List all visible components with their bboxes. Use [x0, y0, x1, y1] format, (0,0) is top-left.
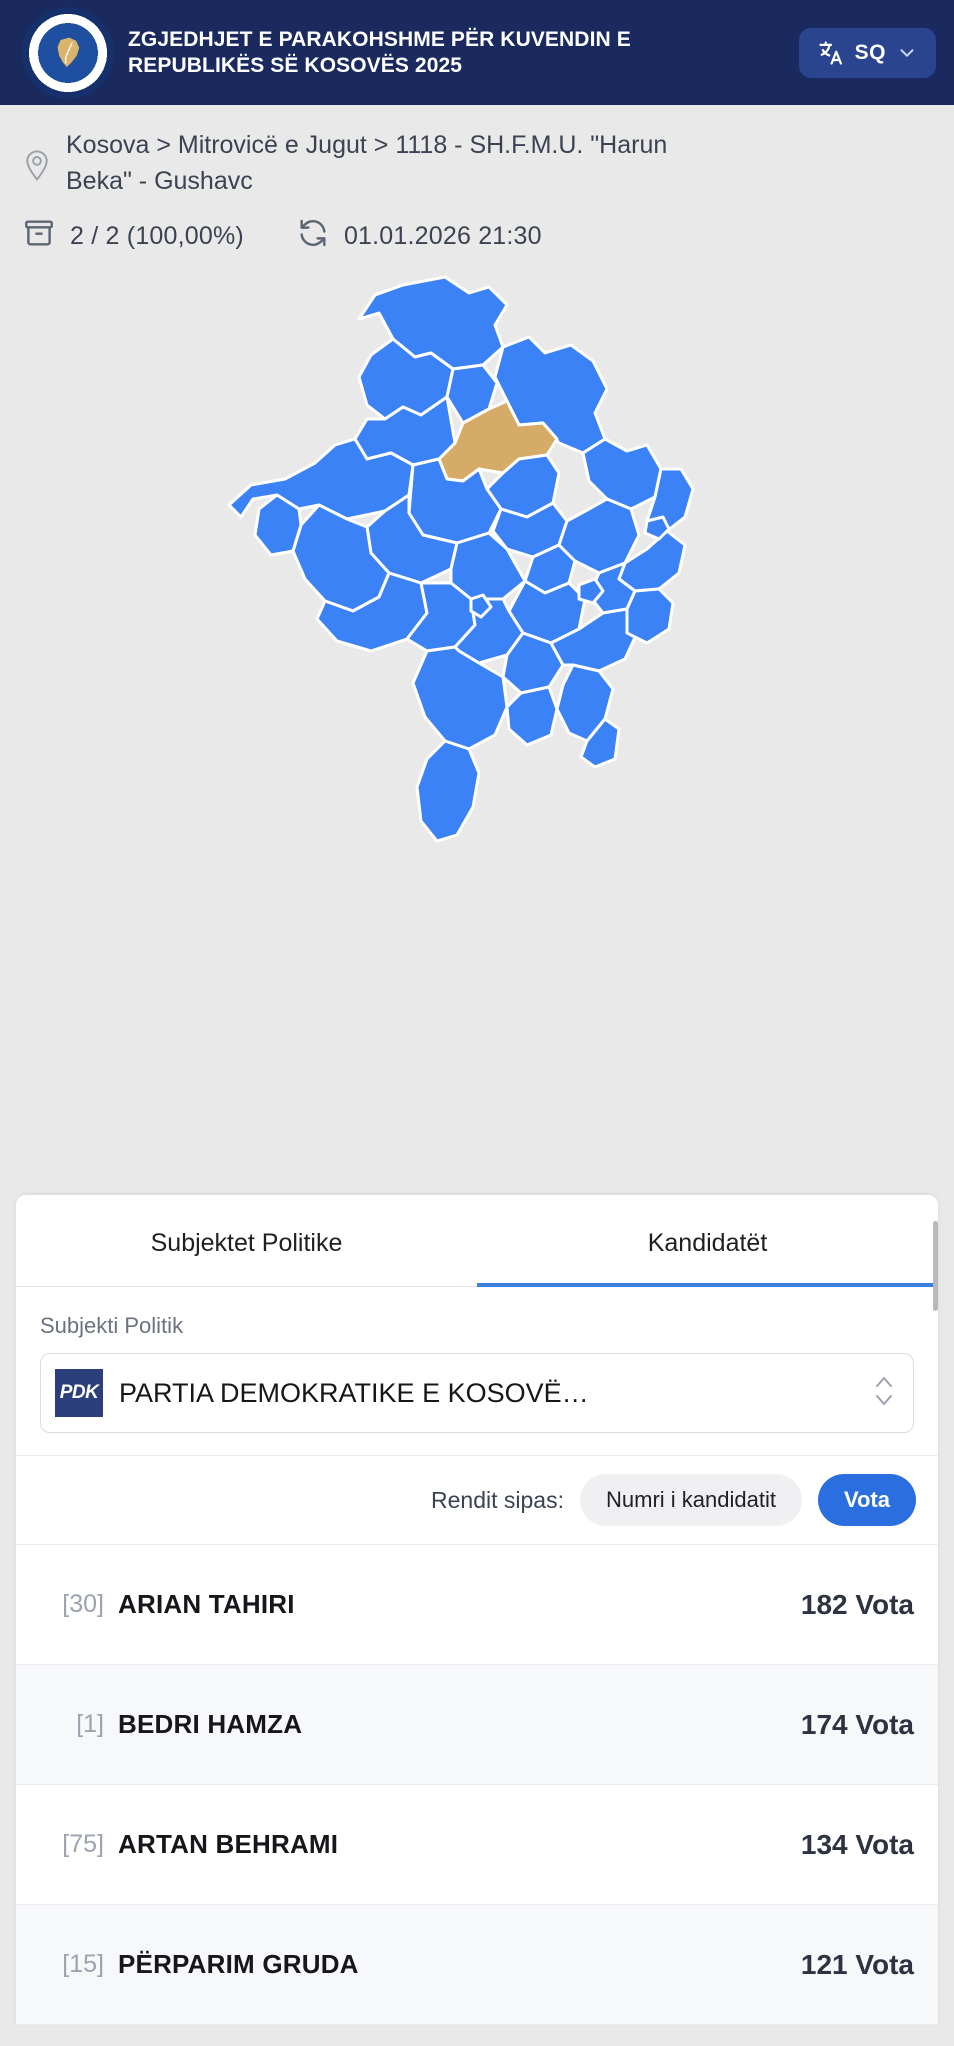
table-row[interactable]: [15] PËRPARIM GRUDA 121 Vota — [16, 1905, 938, 2025]
tab-bar: Subjektet Politike Kandidatët — [16, 1195, 938, 1287]
sort-bar: Rendit sipas: Numri i kandidatit Vota — [16, 1456, 938, 1545]
candidate-votes: 174 Vota — [801, 1709, 914, 1741]
tab-kandidatet[interactable]: Kandidatët — [477, 1195, 938, 1286]
counted-stations: 2 / 2 (100,00%) — [70, 222, 244, 251]
candidate-name: ARTAN BEHRAMI — [118, 1829, 801, 1860]
party-filter-label: Subjekti Politik — [40, 1313, 914, 1339]
kosovo-shape-icon — [49, 33, 88, 72]
location-pin-icon — [22, 149, 52, 188]
candidate-name: PËRPARIM GRUDA — [118, 1949, 801, 1980]
refresh-icon — [296, 216, 330, 257]
ballot-box-icon — [22, 216, 56, 257]
app-title: ZGJEDHJET E PARAKOHSHME PËR KUVENDIN E R… — [128, 27, 673, 78]
candidate-number: [75] — [40, 1830, 118, 1859]
candidate-number: [1] — [40, 1710, 118, 1739]
stepper-updown-icon[interactable] — [873, 1371, 895, 1416]
candidate-name: BEDRI HAMZA — [118, 1709, 801, 1740]
municipality-dragash[interactable] — [417, 741, 479, 841]
app-header: ZGJEDHJET E PARAKOHSHME PËR KUVENDIN E R… — [0, 0, 954, 105]
table-row[interactable]: [30] ARIAN TAHIRI 182 Vota — [16, 1545, 938, 1665]
sort-by-votes-button[interactable]: Vota — [818, 1474, 916, 1526]
breadcrumb: Kosova > Mitrovicë e Jugut > 1118 - SH.F… — [0, 105, 954, 200]
stats-row: 2 / 2 (100,00%) 01.01.2026 21:30 — [0, 200, 954, 267]
tab-label: Kandidatët — [648, 1229, 768, 1257]
last-updated: 01.01.2026 21:30 — [344, 222, 542, 251]
tab-label: Subjektet Politike — [151, 1229, 343, 1257]
tab-scroll-indicator[interactable] — [933, 1221, 938, 1311]
party-select[interactable]: PDK PARTIA DEMOKRATIKE E KOSOVË… — [40, 1353, 914, 1433]
candidate-name: ARIAN TAHIRI — [118, 1589, 801, 1620]
municipality-prizren[interactable] — [413, 647, 507, 749]
candidate-votes: 134 Vota — [801, 1829, 914, 1861]
kqz-seal-logo — [22, 7, 114, 99]
chevron-down-icon — [896, 42, 918, 64]
party-filter-block: Subjekti Politik PDK PARTIA DEMOKRATIKE … — [16, 1287, 938, 1456]
party-select-value: PARTIA DEMOKRATIKE E KOSOVË… — [119, 1378, 857, 1409]
municipality-shterpce[interactable] — [507, 687, 557, 745]
table-row[interactable]: [75] ARTAN BEHRAMI 134 Vota — [16, 1785, 938, 1905]
kosovo-municipalities-svg[interactable] — [207, 273, 747, 863]
municipality-viti[interactable] — [627, 589, 673, 643]
kosovo-map[interactable] — [0, 267, 954, 867]
candidate-list: [30] ARIAN TAHIRI 182 Vota [1] BEDRI HAM… — [16, 1545, 938, 2025]
language-selector-button[interactable]: SQ — [799, 28, 936, 78]
breadcrumb-path[interactable]: Kosova > Mitrovicë e Jugut > 1118 - SH.F… — [66, 127, 726, 200]
table-row[interactable]: [1] BEDRI HAMZA 174 Vota — [16, 1665, 938, 1785]
sort-label: Rendit sipas: — [431, 1487, 564, 1514]
candidate-number: [30] — [40, 1590, 118, 1619]
translate-icon — [817, 39, 845, 67]
language-code: SQ — [855, 41, 886, 65]
candidate-votes: 121 Vota — [801, 1949, 914, 1981]
candidate-votes: 182 Vota — [801, 1589, 914, 1621]
municipality-kamenice[interactable] — [583, 439, 661, 509]
candidate-number: [15] — [40, 1950, 118, 1979]
results-panel: Subjektet Politike Kandidatët Subjekti P… — [16, 1195, 938, 2025]
seal-inner — [43, 28, 93, 78]
party-logo-pdk: PDK — [55, 1369, 103, 1417]
sort-by-candidate-number-button[interactable]: Numri i kandidatit — [580, 1474, 802, 1526]
tab-subjektet-politike[interactable]: Subjektet Politike — [16, 1195, 477, 1286]
